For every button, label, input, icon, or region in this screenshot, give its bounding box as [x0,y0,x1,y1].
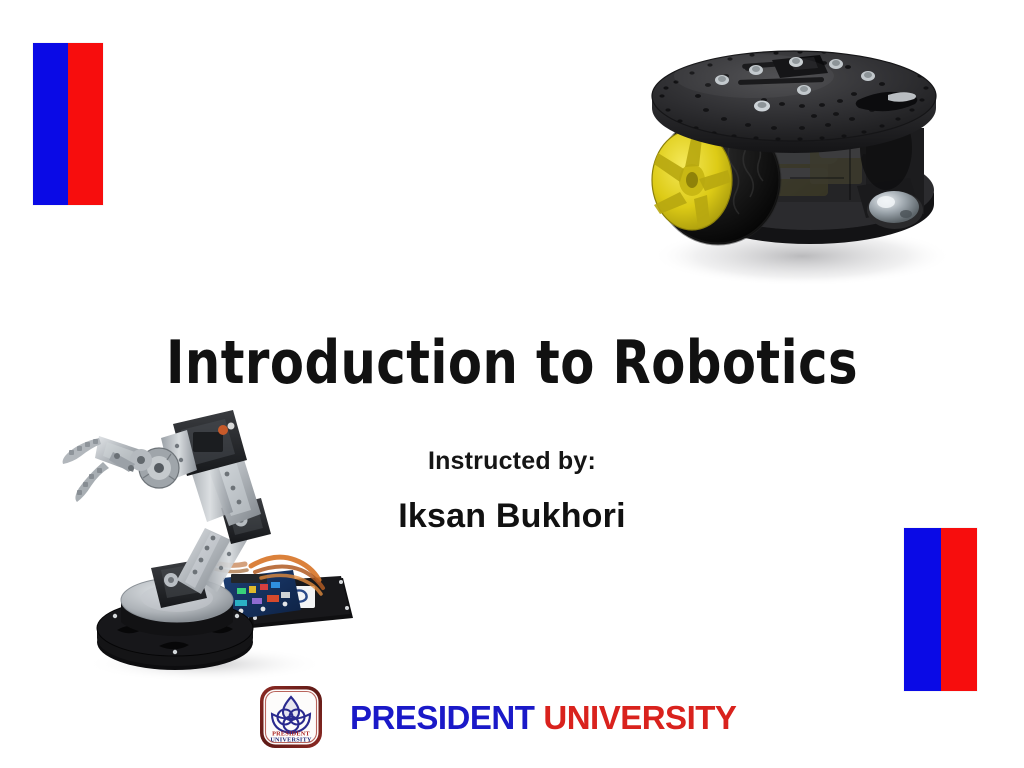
bar-blue-half [904,528,941,691]
decorative-bar-bottom-right [904,528,977,691]
robot-platform-image [614,28,974,290]
instructed-by-label: Instructed by: [0,447,1024,476]
university-wordmark: PRESIDENTUNIVERSITY [350,701,736,734]
slide-title: Introduction to Robotics [41,331,983,396]
bar-red-half [68,43,103,205]
bar-red-half [941,528,978,691]
robotic-arm-image [55,402,373,684]
wordmark-university: UNIVERSITY [543,699,736,736]
chassis-deck [652,50,936,153]
instructor-name: Iksan Bukhori [0,497,1024,536]
crest-caption-line2: UNIVERSITY [270,737,312,744]
university-crest-icon: PRESIDENT UNIVERSITY [258,683,326,751]
bar-blue-half [33,43,68,205]
decorative-bar-top-left [33,43,103,205]
wordmark-president: PRESIDENT [350,699,534,736]
university-logo: PRESIDENT UNIVERSITY PRESIDENTUNIVERSITY [258,682,758,752]
presentation-slide: Introduction to Robotics Instructed by: … [0,0,1024,768]
